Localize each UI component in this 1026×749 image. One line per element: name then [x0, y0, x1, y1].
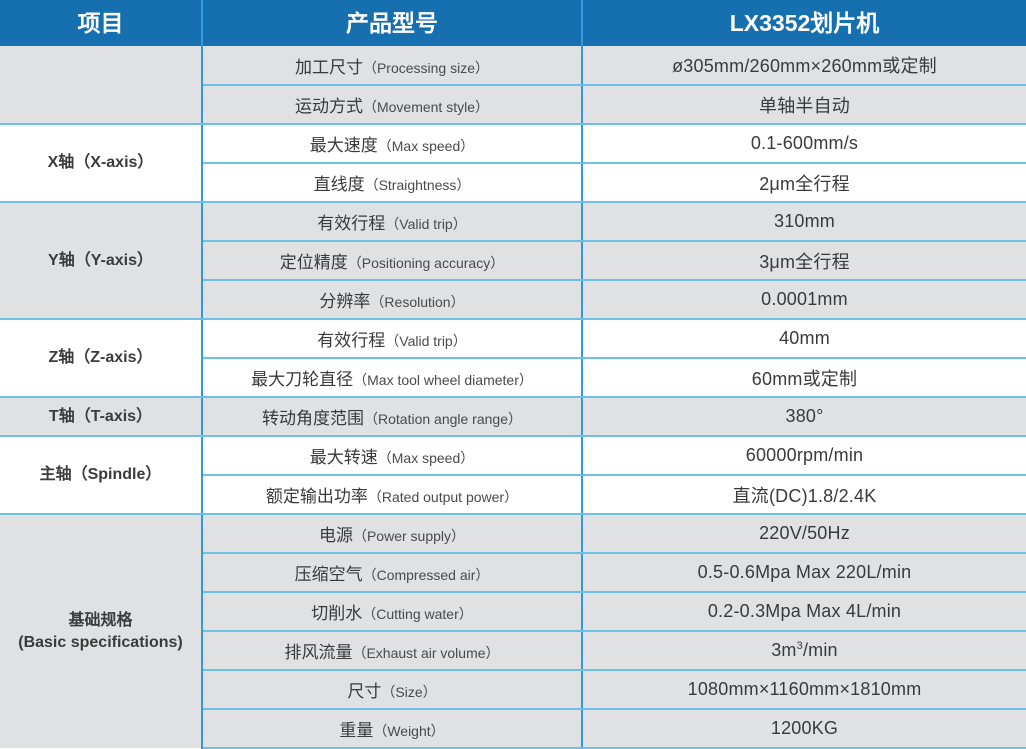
- table-row: Z轴（Z-axis）有效行程（Valid trip）40mm: [0, 319, 1026, 358]
- value-text: 220V/50Hz: [759, 523, 850, 543]
- item-label-cn: 最大转速: [310, 448, 378, 467]
- value-cell: 0.5-0.6Mpa Max 220L/min: [582, 553, 1026, 592]
- group-label-cn: T轴: [49, 408, 75, 425]
- group-cell-empty: [0, 46, 202, 124]
- table-body: 加工尺寸（Processing size）ø305mm/260mm×260mm或…: [0, 46, 1026, 748]
- table-row: 加工尺寸（Processing size）ø305mm/260mm×260mm或…: [0, 46, 1026, 85]
- item-label-en: （Movement style）: [363, 99, 489, 115]
- group-label-cn: 基础规格: [8, 610, 193, 632]
- value-text: 0.1-600mm/s: [751, 133, 858, 153]
- value-text: 40mm: [779, 328, 830, 348]
- item-cell: 分辨率（Resolution）: [202, 280, 582, 319]
- value-cell: 380°: [582, 397, 1026, 436]
- item-cell: 重量（Weight）: [202, 709, 582, 748]
- item-cell: 压缩空气（Compressed air）: [202, 553, 582, 592]
- group-label-cn: X轴: [48, 154, 75, 171]
- value-text: 0.0001mm: [761, 289, 848, 309]
- item-label-en: （Exhaust air volume）: [352, 645, 499, 661]
- item-cell: 最大刀轮直径（Max tool wheel diameter）: [202, 358, 582, 397]
- group-cell: Z轴（Z-axis）: [0, 319, 202, 397]
- item-label-en: （Processing size）: [363, 60, 489, 76]
- value-text: 0.2-0.3Mpa Max 4L/min: [708, 601, 901, 621]
- value-cell: 60mm或定制: [582, 358, 1026, 397]
- item-label-cn: 运动方式: [295, 97, 363, 116]
- group-cell: 主轴（Spindle）: [0, 436, 202, 514]
- item-label-en: （Max speed）: [378, 138, 474, 154]
- table-row: T轴（T-axis）转动角度范围（Rotation angle range）38…: [0, 397, 1026, 436]
- value-text: 1200KG: [771, 718, 838, 738]
- group-label-cn: 主轴: [40, 466, 72, 483]
- group-label-cn: Z轴: [48, 349, 74, 366]
- item-label-en: （Straightness）: [365, 177, 471, 193]
- item-cell: 电源（Power supply）: [202, 514, 582, 553]
- item-cell: 定位精度（Positioning accuracy）: [202, 241, 582, 280]
- item-label-en: （Resolution）: [370, 294, 464, 310]
- item-label-en: （Max speed）: [378, 450, 474, 466]
- value-cell: 0.0001mm: [582, 280, 1026, 319]
- item-label-en: （Positioning accuracy）: [348, 255, 504, 271]
- item-label-cn: 最大速度: [310, 136, 378, 155]
- value-text: 3m3/min: [771, 640, 838, 660]
- value-text: 60mm或定制: [752, 369, 857, 389]
- value-text: 单轴半自动: [759, 96, 850, 116]
- item-label-cn: 额定输出功率: [266, 487, 368, 506]
- item-label-cn: 定位精度: [280, 253, 348, 272]
- item-cell: 转动角度范围（Rotation angle range）: [202, 397, 582, 436]
- header-row: 项目 产品型号 LX3352划片机: [0, 0, 1026, 46]
- item-label-cn: 压缩空气: [295, 565, 363, 584]
- item-cell: 有效行程（Valid trip）: [202, 319, 582, 358]
- item-label-en: （Compressed air）: [363, 567, 490, 583]
- item-label-en: （Rotation angle range）: [364, 411, 522, 427]
- value-cell: 40mm: [582, 319, 1026, 358]
- value-cell: 1200KG: [582, 709, 1026, 748]
- item-label-cn: 重量: [339, 721, 373, 740]
- group-label-en: （Spindle）: [72, 466, 162, 483]
- group-label-cn: Y轴: [48, 252, 75, 269]
- item-label-en: （Size）: [381, 684, 436, 700]
- value-cell: 310mm: [582, 202, 1026, 241]
- value-cell: 0.2-0.3Mpa Max 4L/min: [582, 592, 1026, 631]
- item-label-en: （Valid trip）: [385, 333, 466, 349]
- value-text: 3μm全行程: [759, 252, 850, 272]
- item-label-en: （Power supply）: [353, 528, 465, 544]
- item-label-en: （Rated output power）: [368, 489, 518, 505]
- value-text: 310mm: [774, 211, 835, 231]
- value-cell: 直流(DC)1.8/2.4K: [582, 475, 1026, 514]
- value-cell: 1080mm×1160mm×1810mm: [582, 670, 1026, 709]
- item-label-cn: 转动角度范围: [262, 409, 364, 428]
- item-label-cn: 尺寸: [347, 682, 381, 701]
- group-cell: Y轴（Y-axis）: [0, 202, 202, 319]
- value-text: 380°: [785, 406, 823, 426]
- item-cell: 最大转速（Max speed）: [202, 436, 582, 475]
- item-label-en: （Cutting water）: [362, 606, 472, 622]
- item-label-cn: 加工尺寸: [295, 58, 363, 77]
- group-label-en: (Basic specifications): [8, 632, 193, 654]
- value-text: 60000rpm/min: [746, 445, 863, 465]
- group-label-en: （X-axis）: [74, 154, 153, 171]
- value-cell: 3μm全行程: [582, 241, 1026, 280]
- item-cell: 直线度（Straightness）: [202, 163, 582, 202]
- value-text: 0.5-0.6Mpa Max 220L/min: [698, 562, 912, 582]
- table-row: 基础规格(Basic specifications)电源（Power suppl…: [0, 514, 1026, 553]
- table-row: 主轴（Spindle）最大转速（Max speed）60000rpm/min: [0, 436, 1026, 475]
- value-text: 直流(DC)1.8/2.4K: [733, 486, 877, 506]
- value-cell: ø305mm/260mm×260mm或定制: [582, 46, 1026, 85]
- table-header: 项目 产品型号 LX3352划片机: [0, 0, 1026, 46]
- group-cell: X轴（X-axis）: [0, 124, 202, 202]
- item-cell: 加工尺寸（Processing size）: [202, 46, 582, 85]
- item-cell: 切削水（Cutting water）: [202, 592, 582, 631]
- item-cell: 有效行程（Valid trip）: [202, 202, 582, 241]
- item-label-en: （Valid trip）: [385, 216, 466, 232]
- group-label-en: （Y-axis）: [75, 252, 153, 269]
- group-label-en: （T-axis）: [75, 408, 152, 425]
- table-row: X轴（X-axis）最大速度（Max speed）0.1-600mm/s: [0, 124, 1026, 163]
- specification-table: 项目 产品型号 LX3352划片机 加工尺寸（Processing size）ø…: [0, 0, 1026, 749]
- header-cell-value: LX3352划片机: [582, 0, 1026, 46]
- item-cell: 额定输出功率（Rated output power）: [202, 475, 582, 514]
- item-cell: 运动方式（Movement style）: [202, 85, 582, 124]
- header-cell-group: 项目: [0, 0, 202, 46]
- group-cell: T轴（T-axis）: [0, 397, 202, 436]
- item-label-cn: 电源: [319, 526, 353, 545]
- group-cell: 基础规格(Basic specifications): [0, 514, 202, 748]
- value-cell: 220V/50Hz: [582, 514, 1026, 553]
- item-cell: 排风流量（Exhaust air volume）: [202, 631, 582, 670]
- item-label-cn: 直线度: [314, 175, 365, 194]
- header-cell-item: 产品型号: [202, 0, 582, 46]
- group-label-en: （Z-axis）: [74, 349, 152, 366]
- item-cell: 最大速度（Max speed）: [202, 124, 582, 163]
- item-label-en: （Max tool wheel diameter）: [353, 372, 533, 388]
- item-cell: 尺寸（Size）: [202, 670, 582, 709]
- item-label-cn: 有效行程: [317, 331, 385, 350]
- table-row: Y轴（Y-axis）有效行程（Valid trip）310mm: [0, 202, 1026, 241]
- value-cell: 0.1-600mm/s: [582, 124, 1026, 163]
- value-cell: 60000rpm/min: [582, 436, 1026, 475]
- value-text: 1080mm×1160mm×1810mm: [688, 679, 922, 699]
- item-label-cn: 切削水: [311, 604, 362, 623]
- value-text: ø305mm/260mm×260mm或定制: [672, 56, 937, 76]
- item-label-en: （Weight）: [373, 723, 444, 739]
- value-cell: 2μm全行程: [582, 163, 1026, 202]
- value-cell: 单轴半自动: [582, 85, 1026, 124]
- value-text: 2μm全行程: [759, 174, 850, 194]
- item-label-cn: 排风流量: [284, 643, 352, 662]
- item-label-cn: 最大刀轮直径: [251, 370, 353, 389]
- item-label-cn: 分辨率: [319, 292, 370, 311]
- item-label-cn: 有效行程: [317, 214, 385, 233]
- value-cell: 3m3/min: [582, 631, 1026, 670]
